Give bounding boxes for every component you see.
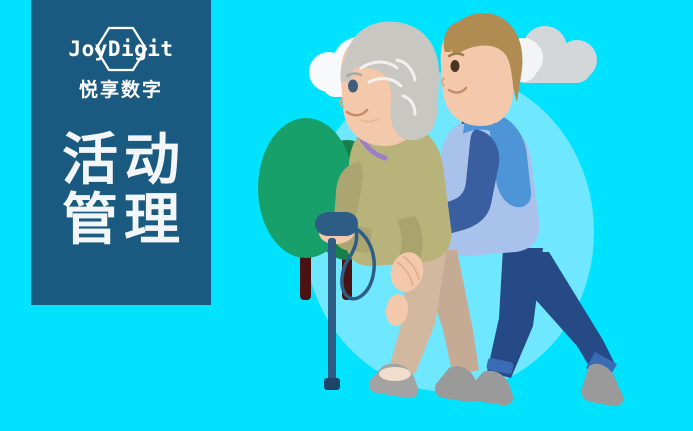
youth-back-shoe	[581, 364, 623, 406]
page-title-line-1: 活动	[56, 130, 186, 190]
page-title-line-2: 管理	[56, 190, 186, 250]
brand-panel: JoyDigit 悦享数字 活动 管理	[31, 0, 211, 305]
youth-eye	[451, 60, 460, 72]
brand-name-cn: 悦享数字	[79, 81, 163, 100]
promo-banner: JoyDigit 悦享数字 活动 管理	[0, 0, 693, 431]
page-title: 活动 管理	[56, 130, 186, 250]
illustration	[211, 0, 693, 431]
logo-wordmark: JoyDigit	[68, 39, 173, 60]
logo: JoyDigit	[46, 26, 196, 72]
elder-eye	[348, 80, 358, 93]
